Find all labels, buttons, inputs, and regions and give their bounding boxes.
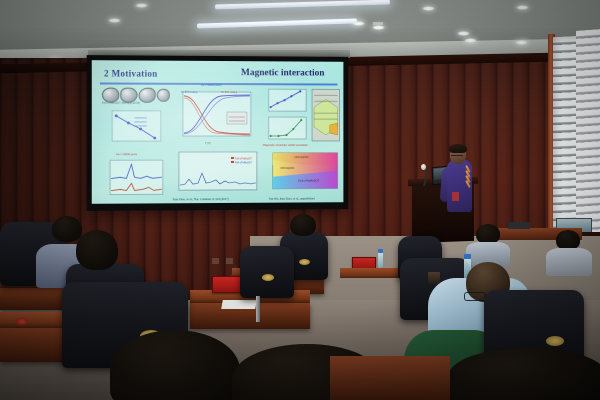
chart-sigmoid-legend-b: FC ZFC cooling — [221, 92, 237, 95]
svg-text:Fe3-xTixMn2O7: Fe3-xTixMn2O7 — [298, 179, 319, 183]
tem-image-2 — [120, 88, 137, 103]
chair-emblem — [262, 274, 274, 281]
slide-title-left: 2 Motivation — [104, 68, 158, 78]
chair-emblem — [299, 259, 310, 265]
lecture-hall-photo: 2 Motivation Magnetic interaction Fe3-xT… — [0, 0, 600, 400]
chart-sigmoid-xlabel: T (K) — [205, 143, 211, 146]
magnetic-structure-caption: Magnetic structure under pressure — [263, 144, 342, 147]
chart-left-svg — [102, 109, 165, 149]
chart-pressure-lower — [261, 115, 310, 143]
chart-diffraction-svg — [100, 156, 167, 201]
speaker-torso — [447, 160, 472, 212]
tem-image-3 — [139, 88, 156, 103]
chart-diffraction-title: Ho = 10000 pe/ns — [116, 154, 137, 157]
svg-text:Fe3-xTixMn2O7: Fe3-xTixMn2O7 — [235, 161, 253, 164]
chair-base-row3-3 — [256, 296, 260, 322]
svg-text:Fe3-xTixMn2O7: Fe3-xTixMn2O7 — [235, 157, 253, 160]
ceiling-downlight-7 — [516, 5, 529, 10]
slide-title-right: Magnetic interaction — [241, 68, 325, 78]
ceiling-downlight-5 — [372, 25, 385, 30]
chair-row3-3 — [240, 246, 294, 298]
audience-head-row3-2 — [76, 230, 118, 270]
wall-socket-icon-2 — [226, 258, 233, 264]
chart-sigmoid-svg — [171, 86, 257, 146]
desk-foreground-right — [330, 356, 450, 400]
audience-head-foreground-3 — [448, 348, 600, 400]
ceiling-downlight-4 — [422, 6, 435, 11]
svg-text:ferrimagnetic: ferrimagnetic — [281, 167, 295, 170]
side-table-equipment — [508, 222, 530, 229]
chart-sigmoid-title: Ho = 50000 pe/ns — [201, 85, 222, 88]
svg-text:paramagnetic: paramagnetic — [294, 156, 309, 159]
ceiling-downlight-3 — [352, 21, 365, 26]
ceiling-downlight-6 — [457, 31, 470, 36]
name-placard-3 — [212, 276, 241, 293]
audience-head-row4-1 — [290, 214, 316, 236]
microphone-icon — [421, 164, 426, 170]
tem-image-4 — [157, 89, 170, 102]
chart-left-descending — [102, 109, 165, 149]
audience-head-row4-3 — [556, 230, 580, 250]
projection-screen: 2 Motivation Magnetic interaction Fe3-xT… — [87, 55, 349, 211]
audience-glasses-row3-5 — [464, 292, 486, 301]
magnetic-structure-svg — [310, 87, 341, 143]
chart-wide-spectrum: Fe3-xTixMn2O7 Fe3-xTixMn2O7 — [169, 149, 261, 197]
chart-sigmoid-legend-a: FC ZFC heating — [181, 92, 197, 95]
speaker-badge — [452, 192, 459, 201]
paper-notes-2 — [221, 300, 257, 309]
magnetic-structure-diagram — [310, 87, 341, 143]
audience-shoulders-row4-3 — [546, 248, 592, 276]
water-bottle-2-cap — [464, 254, 471, 259]
ceiling-downlight-1 — [108, 18, 121, 23]
ceiling-downlight-9 — [515, 40, 528, 45]
slide-citation-right: Yan Wu, Kun Zhao, et al., unpublished — [269, 196, 315, 200]
window-blinds-secondary[interactable] — [576, 29, 600, 246]
audience-head-row4-2 — [476, 224, 500, 244]
chart-pressure-upper-svg — [261, 87, 310, 115]
chart-pressure-lower-svg — [261, 115, 310, 143]
desk-button-icon — [16, 318, 28, 325]
audience-head-row3-1 — [52, 216, 82, 242]
chart-sigmoid — [171, 86, 257, 146]
phase-diagram-svg: paramagnetic ferrimagnetic Fe3-xTixMn2O7 — [265, 151, 342, 195]
presentation-slide: 2 Motivation Magnetic interaction Fe3-xT… — [92, 60, 344, 204]
coffee-cup — [428, 272, 440, 284]
wall-socket-icon-1 — [212, 258, 219, 264]
ceiling-downlight-8 — [464, 38, 477, 43]
phase-diagram: paramagnetic ferrimagnetic Fe3-xTixMn2O7 — [265, 151, 342, 195]
water-bottle-1 — [378, 252, 383, 268]
water-bottle-1-cap — [378, 249, 383, 253]
ceiling-downlight-2 — [135, 3, 148, 8]
slide-citation-left: Kun Zhao, et al., Nat. Commun. 8, 519 (2… — [173, 197, 229, 201]
chart-pressure-upper — [261, 87, 310, 115]
tem-image-1 — [102, 88, 119, 103]
ceiling-vent-icon — [373, 22, 383, 25]
audience-head-foreground-1 — [110, 330, 240, 400]
chart-wide-spectrum-svg: Fe3-xTixMn2O7 Fe3-xTixMn2O7 — [169, 149, 261, 197]
speaker-glasses — [451, 152, 463, 156]
chair-emblem — [546, 336, 564, 346]
chart-diffraction — [100, 156, 167, 201]
